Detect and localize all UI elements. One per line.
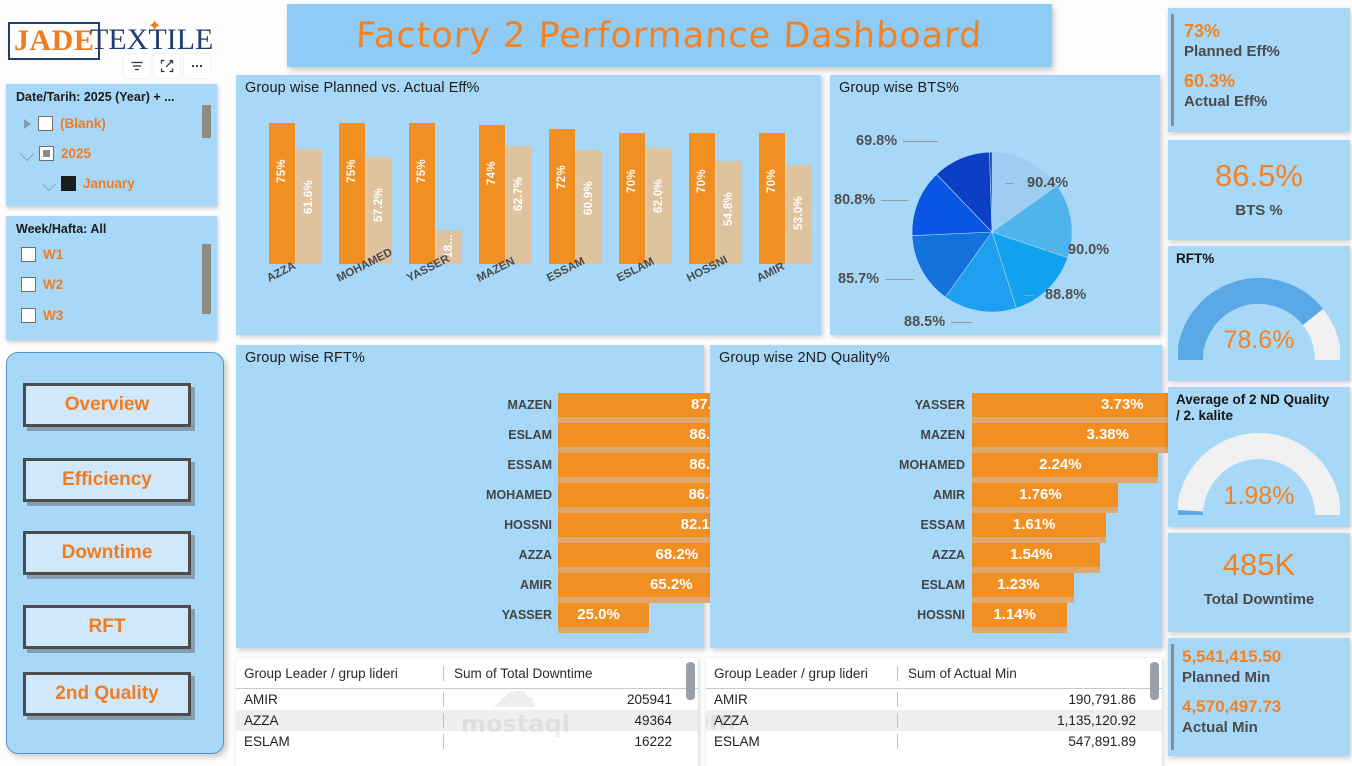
kpi-gauge-second-quality[interactable]: Average of 2 ND Quality / 2. kalite 1.98… <box>1168 387 1350 527</box>
cell-value: 16222 <box>444 734 682 749</box>
bar-planned[interactable]: 72% <box>549 129 575 264</box>
slicer-visual-header <box>124 54 210 78</box>
kpi-card-efficiency[interactable]: 73% Planned Eff% 60.3% Actual Eff% <box>1168 8 1350 132</box>
nav-button-overview[interactable]: Overview <box>23 383 191 427</box>
date-slicer-label-blank: (Blank) <box>60 116 106 131</box>
dashboard-title-banner: Factory 2 Performance Dashboard <box>287 4 1052 67</box>
kpi-label-planned-eff: Planned Eff% <box>1184 42 1280 62</box>
bar-value-label: 70% <box>626 169 638 193</box>
date-slicer-label-january: January <box>83 176 135 191</box>
pie-slice-label: 88.8% <box>1045 287 1086 303</box>
week-slicer-item-w1[interactable]: W1 <box>21 247 63 262</box>
date-slicer-item-january[interactable]: January <box>44 176 135 191</box>
week-slicer[interactable]: Week/Hafta: All W1 W2 W3 <box>6 216 217 340</box>
funnel-category-label: MOHAMED <box>899 458 965 472</box>
bar-value-label: 75% <box>346 159 358 183</box>
filter-icon[interactable] <box>124 54 150 78</box>
bar-value-label: 60.9% <box>583 181 595 215</box>
kpi-card-bts[interactable]: 86.5% BTS % <box>1168 140 1350 240</box>
nav-button-2nd-quality[interactable]: 2nd Quality <box>23 672 191 716</box>
pie-slice-label: 80.8% <box>834 192 875 208</box>
date-slicer-item-2025[interactable]: 2025 <box>22 146 91 161</box>
chevron-right-icon[interactable] <box>24 119 31 129</box>
cell-value: 190,791.86 <box>898 692 1146 707</box>
bar-value-label: 70% <box>766 169 778 193</box>
chevron-down-icon-january[interactable] <box>42 176 56 190</box>
bar-actual[interactable]: 61.6% <box>296 149 322 265</box>
cell-value: 547,891.89 <box>898 734 1146 749</box>
table-downtime-col-1: Sum of Total Downtime <box>444 666 593 681</box>
funnel-category-label: AMIR <box>933 488 965 502</box>
kpi-label-total-downtime: Total Downtime <box>1168 591 1350 608</box>
pie-svg <box>830 75 1160 335</box>
cell-value: 49364 <box>444 713 682 728</box>
kpi-label-planned-min: Planned Min <box>1182 668 1281 688</box>
funnel-category-label: ESSAM <box>921 518 965 532</box>
checkbox-january[interactable] <box>61 176 76 191</box>
funnel-category-label: MAZEN <box>921 428 965 442</box>
table-row[interactable]: ESLAM 547,891.89 <box>706 731 1162 752</box>
cell-group-leader: ESLAM <box>236 734 444 749</box>
bar-actual[interactable]: 53.0% <box>786 165 812 264</box>
focus-mode-icon[interactable] <box>154 54 180 78</box>
kpi-card-minutes[interactable]: 5,541,415.50 Planned Min 4,570,497.73 Ac… <box>1168 638 1350 756</box>
kpi-value-rft: 78.6% <box>1168 326 1350 355</box>
table-downtime[interactable]: ☁ mostaql Group Leader / grup lideri Sum… <box>236 658 698 766</box>
bar-planned[interactable]: 75% <box>339 123 365 264</box>
nav-button-downtime[interactable]: Downtime <box>23 531 191 575</box>
more-options-icon[interactable] <box>184 54 210 78</box>
cell-group-leader: AMIR <box>236 692 444 707</box>
week-slicer-scrollbar[interactable] <box>202 244 211 314</box>
bar-value-label: 75% <box>276 159 288 183</box>
kpi-title-second-quality: Average of 2 ND Quality / 2. kalite <box>1176 392 1336 424</box>
kpi-accent-bar <box>1171 14 1174 126</box>
bar-value-label: 54.8% <box>723 192 735 226</box>
funnel-value-label: 68.2% <box>656 546 699 563</box>
date-slicer-label-2025: 2025 <box>61 146 91 161</box>
funnel-category-label: MOHAMED <box>486 488 552 502</box>
bar-actual[interactable]: 54.8% <box>716 161 742 264</box>
funnel-category-label: ESLAM <box>921 578 965 592</box>
table-downtime-header: Group Leader / grup lideri Sum of Total … <box>236 658 698 689</box>
cell-group-leader: AZZA <box>706 713 898 728</box>
bar-planned[interactable]: 75% <box>409 123 435 264</box>
table-actual-min-scrollbar[interactable] <box>1150 662 1159 700</box>
nav-button-rft[interactable]: RFT <box>23 605 191 649</box>
plot-area-rft: MAZEN87.8%ESLAM86.9%ESSAM86.8%MOHAMED86.… <box>236 345 704 648</box>
pie-leader-line <box>1046 250 1058 251</box>
chart-planned-vs-actual[interactable]: Group wise Planned vs. Actual Eff% 75%61… <box>236 75 821 335</box>
chart-rft-funnel[interactable]: Group wise RFT% MAZEN87.8%ESLAM86.9%ESSA… <box>236 345 704 648</box>
bar-planned[interactable]: 70% <box>759 133 785 264</box>
kpi-value-actual-eff: 60.3% <box>1184 70 1267 92</box>
bar-planned[interactable]: 70% <box>619 133 645 264</box>
bar-value-label: 74% <box>486 161 498 185</box>
week-slicer-item-w2[interactable]: W2 <box>21 277 63 292</box>
checkbox-w1[interactable] <box>21 247 36 262</box>
kpi-value-total-downtime: 485K <box>1168 547 1350 583</box>
kpi-accent-bar-minutes <box>1171 644 1174 750</box>
week-slicer-item-w3[interactable]: W3 <box>21 308 63 323</box>
kpi-gauge-rft[interactable]: RFT% 78.6% <box>1168 246 1350 381</box>
pie-leader-line <box>881 200 908 201</box>
table-actual-min-col-0: Group Leader / grup lideri <box>706 666 898 681</box>
week-slicer-header: Week/Hafta: All <box>16 222 106 236</box>
funnel-value-label: 1.61% <box>1013 516 1056 533</box>
bar-actual[interactable]: 62.0% <box>646 148 672 264</box>
kpi-row-actual-min: 4,570,497.73 Actual Min <box>1182 696 1281 738</box>
kpi-row-planned-eff: 73% Planned Eff% <box>1184 20 1280 62</box>
funnel-category-label: HOSSNI <box>917 608 965 622</box>
funnel-step-connector <box>972 627 1067 633</box>
table-row[interactable]: AZZA 49364 <box>236 710 698 731</box>
checkbox-w2[interactable] <box>21 277 36 292</box>
pie-slice-label: 85.7% <box>838 271 879 287</box>
funnel-category-label: AZZA <box>932 548 965 562</box>
kpi-value-second-quality: 1.98% <box>1168 482 1350 511</box>
pie-slice-label: 90.4% <box>1027 175 1068 191</box>
funnel-value-label: 1.14% <box>993 606 1036 623</box>
kpi-row-planned-min: 5,541,415.50 Planned Min <box>1182 646 1281 688</box>
pie-leader-line <box>903 141 938 142</box>
pie-leader-line <box>885 279 914 280</box>
table-downtime-scrollbar[interactable] <box>686 662 695 700</box>
cell-group-leader: ESLAM <box>706 734 898 749</box>
table-row[interactable]: AMIR 205941 <box>236 689 698 710</box>
bar-value-label: 72% <box>556 165 568 189</box>
logo-sparkle-icon: ✦ <box>148 19 161 35</box>
funnel-category-label: MAZEN <box>508 398 552 412</box>
bar-actual[interactable]: 60.9% <box>576 150 602 264</box>
funnel-value-label: 2.24% <box>1039 456 1082 473</box>
kpi-value-actual-min: 4,570,497.73 <box>1182 696 1281 718</box>
week-slicer-label-w3: W3 <box>43 308 63 323</box>
week-slicer-label-w1: W1 <box>43 247 63 262</box>
table-row[interactable]: AMIR 190,791.86 <box>706 689 1162 710</box>
table-downtime-col-0: Group Leader / grup lideri <box>236 666 444 681</box>
kpi-card-total-downtime[interactable]: 485K Total Downtime <box>1168 533 1350 632</box>
checkbox-2025[interactable] <box>39 146 54 161</box>
table-actual-min[interactable]: .com Group Leader / grup lideri Sum of A… <box>706 658 1162 766</box>
funnel-category-label: YASSER <box>502 608 552 622</box>
pie-slice-label: 90.0% <box>1068 242 1109 258</box>
plot-area-planned-vs-actual: 75%61.6%AZZA75%57.2%MOHAMED75%18...YASSE… <box>236 75 821 335</box>
pie-slice-label: 69.8% <box>856 133 897 149</box>
bar-value-label: 75% <box>416 159 428 183</box>
funnel-step-connector <box>558 627 649 633</box>
funnel-category-label: YASSER <box>915 398 965 412</box>
cell-value: 1,135,120.92 <box>898 713 1146 728</box>
funnel-value-label: 65.2% <box>650 576 693 593</box>
funnel-category-label: AZZA <box>519 548 552 562</box>
kpi-value-planned-eff: 73% <box>1184 20 1280 42</box>
nav-button-efficiency[interactable]: Efficiency <box>23 458 191 502</box>
funnel-value-label: 3.38% <box>1086 426 1129 443</box>
bar-value-label: 57.2% <box>373 188 385 222</box>
funnel-value-label: 1.54% <box>1010 546 1053 563</box>
table-actual-min-col-1: Sum of Actual Min <box>898 666 1017 681</box>
bar-planned[interactable]: 75% <box>269 123 295 264</box>
funnel-category-label: AMIR <box>520 578 552 592</box>
date-slicer[interactable]: Date/Tarih: 2025 (Year) + ... (Blank) 20… <box>6 84 217 206</box>
bar-actual[interactable]: 62.7% <box>506 146 532 264</box>
kpi-label-actual-eff: Actual Eff% <box>1184 92 1267 112</box>
date-slicer-scrollbar[interactable] <box>202 105 211 138</box>
chart-second-quality-funnel[interactable]: Group wise 2ND Quality% YASSER3.73%MAZEN… <box>710 345 1162 648</box>
kpi-value-bts: 86.5% <box>1168 158 1350 194</box>
plot-area-second-quality: YASSER3.73%MAZEN3.38%MOHAMED2.24%AMIR1.7… <box>710 345 1162 648</box>
bar-planned[interactable]: 74% <box>479 125 505 264</box>
funnel-value-label: 3.73% <box>1101 396 1144 413</box>
cell-group-leader: AZZA <box>236 713 444 728</box>
pie-slice-label: 88.5% <box>904 314 945 330</box>
pie-leader-line <box>1023 295 1034 296</box>
pie-leader-line <box>951 322 972 323</box>
bar-value-label: 62.7% <box>513 177 525 211</box>
funnel-category-label: HOSSNI <box>504 518 552 532</box>
week-slicer-label-w2: W2 <box>43 277 63 292</box>
chart-bts-pie[interactable]: Group wise BTS% 90.4%90.0%88.8%88.5%85.7… <box>830 75 1160 335</box>
pie-leader-line <box>1005 183 1013 184</box>
funnel-category-label: ESLAM <box>508 428 552 442</box>
kpi-label-bts: BTS % <box>1168 202 1350 219</box>
table-row[interactable]: ESLAM 16222 <box>236 731 698 752</box>
kpi-value-planned-min: 5,541,415.50 <box>1182 646 1281 668</box>
bar-value-label: 70% <box>696 169 708 193</box>
kpi-row-actual-eff: 60.3% Actual Eff% <box>1184 70 1267 112</box>
logo-jade-text: JADE <box>8 22 100 60</box>
bar-value-label: 61.6% <box>303 179 315 213</box>
dashboard-canvas: JADE TEXTILE ✦ Date/Tarih: 2025 (Year) +… <box>0 0 1352 766</box>
bar-value-label: 53.0% <box>793 196 805 230</box>
chevron-down-icon[interactable] <box>20 146 34 160</box>
kpi-title-rft: RFT% <box>1176 251 1214 267</box>
plot-area-bts: 90.4%90.0%88.8%88.5%85.7%80.8%69.8% <box>830 75 1160 335</box>
date-slicer-item-blank[interactable]: (Blank) <box>24 116 106 131</box>
checkbox-blank[interactable] <box>38 116 53 131</box>
navigation-panel: Overview Efficiency Downtime RFT 2nd Qua… <box>6 352 224 754</box>
bar-value-label: 62.0% <box>653 179 665 213</box>
funnel-value-label: 1.76% <box>1019 486 1062 503</box>
cell-group-leader: AMIR <box>706 692 898 707</box>
cell-value: 205941 <box>444 692 682 707</box>
page-title: Factory 2 Performance Dashboard <box>356 16 984 56</box>
bar-planned[interactable]: 70% <box>689 133 715 264</box>
date-slicer-header: Date/Tarih: 2025 (Year) + ... <box>16 90 175 104</box>
kpi-label-actual-min: Actual Min <box>1182 718 1281 738</box>
table-row[interactable]: AZZA 1,135,120.92 <box>706 710 1162 731</box>
funnel-value-label: 25.0% <box>577 606 620 623</box>
checkbox-w3[interactable] <box>21 308 36 323</box>
table-actual-min-header: Group Leader / grup lideri Sum of Actual… <box>706 658 1162 689</box>
category-label: AMIR <box>755 261 787 285</box>
funnel-value-label: 1.23% <box>997 576 1040 593</box>
funnel-category-label: ESSAM <box>508 458 552 472</box>
